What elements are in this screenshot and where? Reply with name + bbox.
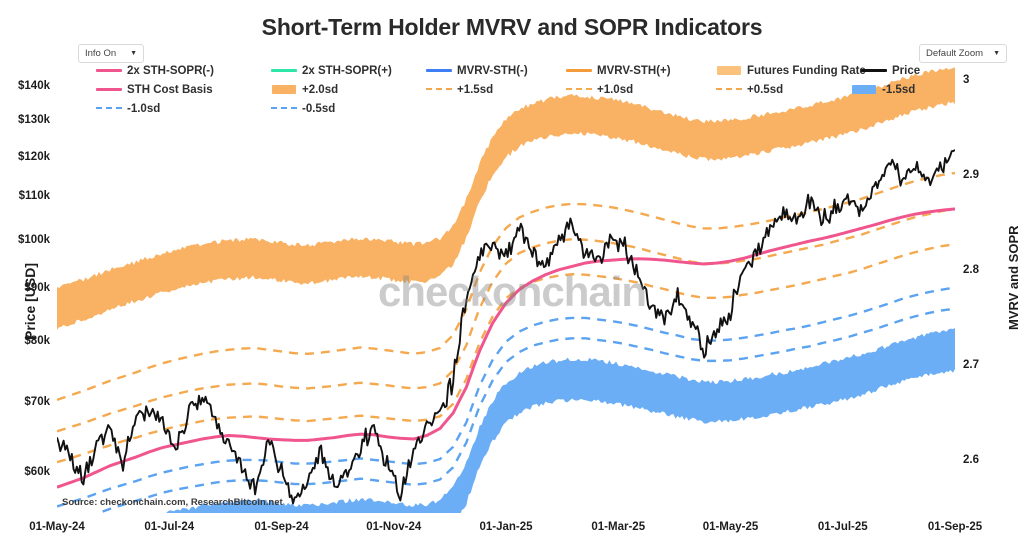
- legend-swatch-icon: [566, 66, 592, 76]
- legend-label: -1.5sd: [882, 84, 915, 96]
- x-tick: 01-Sep-25: [895, 521, 1015, 533]
- legend-swatch-icon: [716, 66, 742, 76]
- y-axis-label-left: Price [USD]: [22, 263, 38, 340]
- x-tick: 01-May-24: [0, 521, 117, 533]
- legend-swatch-icon: [271, 66, 297, 76]
- legend-item-2x-sth-sopr[interactable]: 2x STH-SOPR(+): [271, 61, 392, 80]
- legend-label: 2x STH-SOPR(+): [302, 65, 392, 77]
- legend-item-1-5sd[interactable]: +1.5sd: [426, 80, 493, 99]
- legend-swatch-icon: [96, 85, 122, 95]
- legend-swatch-icon: [271, 85, 297, 95]
- chart-root: Short-Term Holder MVRV and SOPR Indicato…: [0, 0, 1024, 557]
- source-note: Source: checkonchain.com, ResearchBitcoi…: [62, 497, 283, 508]
- y-tick-left: $120k: [0, 151, 50, 163]
- legend-item-mvrv-sth[interactable]: MVRV-STH(-): [426, 61, 528, 80]
- legend-swatch-icon: [96, 104, 122, 114]
- y-tick-right: 3: [963, 74, 969, 86]
- legend-item-price[interactable]: Price: [861, 61, 920, 80]
- x-tick: 01-Mar-25: [558, 521, 678, 533]
- y-tick-left: $90k: [0, 282, 50, 294]
- legend-item-2-0sd[interactable]: +2.0sd: [271, 80, 338, 99]
- legend-item-0-5sd[interactable]: -0.5sd: [271, 99, 335, 118]
- y-tick-left: $100k: [0, 234, 50, 246]
- y-tick-right: 2.6: [963, 454, 979, 466]
- legend-swatch-icon: [271, 104, 297, 114]
- legend-label: 2x STH-SOPR(-): [127, 65, 214, 77]
- legend-swatch-icon: [96, 66, 122, 76]
- x-tick: 01-Nov-24: [334, 521, 454, 533]
- legend-item-1-0sd[interactable]: -1.0sd: [96, 99, 160, 118]
- legend-row: 2x STH-SOPR(-)2x STH-SOPR(+)MVRV-STH(-)M…: [96, 61, 956, 80]
- plot-series-group: [57, 67, 955, 557]
- y-tick-left: $130k: [0, 114, 50, 126]
- legend-swatch-icon: [426, 66, 452, 76]
- legend-item-1-0sd[interactable]: +1.0sd: [566, 80, 633, 99]
- legend-item-2x-sth-sopr[interactable]: 2x STH-SOPR(-): [96, 61, 214, 80]
- legend-item-0-5sd[interactable]: +0.5sd: [716, 80, 783, 99]
- y-tick-left: $70k: [0, 396, 50, 408]
- legend-label: +0.5sd: [747, 84, 783, 96]
- y-tick-left: $140k: [0, 80, 50, 92]
- y-tick-left: $110k: [0, 190, 50, 202]
- legend-swatch-icon: [851, 85, 877, 95]
- legend-label: -1.0sd: [127, 103, 160, 115]
- x-tick: 01-Jan-25: [446, 521, 566, 533]
- legend-row: -1.0sd-0.5sd: [96, 99, 956, 118]
- legend-item-1-5sd[interactable]: -1.5sd: [851, 80, 915, 99]
- legend-item-mvrv-sth[interactable]: MVRV-STH(+): [566, 61, 671, 80]
- legend-label: +1.0sd: [597, 84, 633, 96]
- y-tick-left: $60k: [0, 466, 50, 478]
- legend-label: +1.5sd: [457, 84, 493, 96]
- legend-label: +2.0sd: [302, 84, 338, 96]
- y-tick-right: 2.7: [963, 359, 979, 371]
- legend-item-sth-cost-basis[interactable]: STH Cost Basis: [96, 80, 213, 99]
- x-tick: 01-Sep-24: [222, 521, 342, 533]
- line-price: [57, 150, 955, 503]
- x-tick: 01-Jul-24: [109, 521, 229, 533]
- legend-label: STH Cost Basis: [127, 84, 213, 96]
- legend-row: STH Cost Basis+2.0sd+1.5sd+1.0sd+0.5sd-1…: [96, 80, 956, 99]
- legend-item-futures-funding-rate[interactable]: Futures Funding Rate: [716, 61, 866, 80]
- x-tick: 01-May-25: [671, 521, 791, 533]
- y-tick-right: 2.9: [963, 169, 979, 181]
- legend-swatch-icon: [566, 85, 592, 95]
- legend-label: Futures Funding Rate: [747, 65, 866, 77]
- legend-swatch-icon: [426, 85, 452, 95]
- legend-label: MVRV-STH(-): [457, 65, 528, 77]
- y-tick-left: $80k: [0, 335, 50, 347]
- y-tick-right: 2.8: [963, 264, 979, 276]
- legend-swatch-icon: [861, 66, 887, 76]
- chart-legend: 2x STH-SOPR(-)2x STH-SOPR(+)MVRV-STH(-)M…: [96, 61, 956, 118]
- x-tick: 01-Jul-25: [783, 521, 903, 533]
- legend-label: MVRV-STH(+): [597, 65, 671, 77]
- legend-swatch-icon: [716, 85, 742, 95]
- y-axis-label-right: MVRV and SOPR: [1006, 225, 1021, 330]
- legend-label: Price: [892, 65, 920, 77]
- legend-label: -0.5sd: [302, 103, 335, 115]
